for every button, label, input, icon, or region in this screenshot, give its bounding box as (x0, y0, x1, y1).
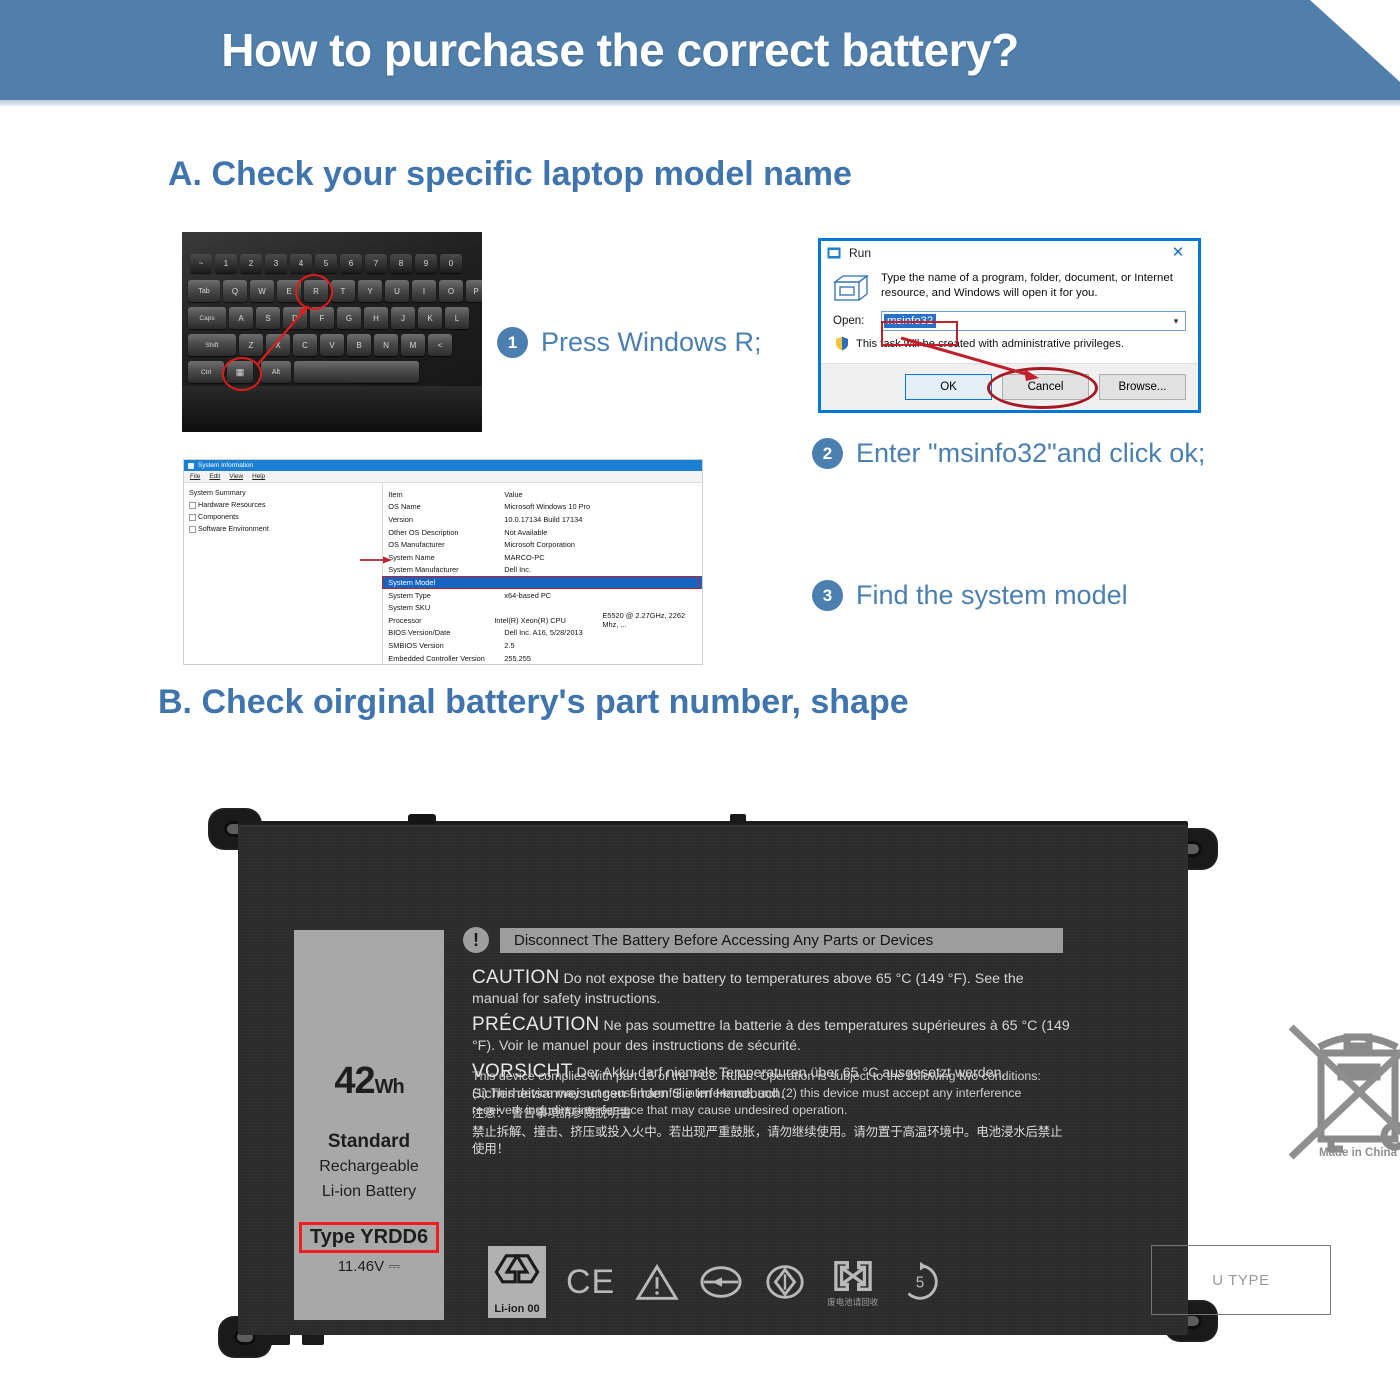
li-ion-label: Li-ion 00 (494, 1303, 539, 1315)
menu-help[interactable]: Help (252, 473, 265, 480)
step-3-label: Find the system model (856, 580, 1128, 611)
run-program-icon (833, 273, 869, 305)
table-row[interactable]: OS NameMicrosoft Windows 10 Pro (383, 501, 702, 514)
row-item: Version (388, 515, 504, 524)
step-1-label: Press Windows R; (541, 327, 762, 358)
row-value: Intel(R) Xeon(R) CPU (494, 616, 602, 625)
ce-mark-icon: CE (566, 1265, 615, 1299)
li-ion-recycle-icon: Li-ion 00 (488, 1246, 546, 1318)
battery-standard-label: Standard (328, 1131, 410, 1153)
run-dialog-body: Type the name of a program, folder, docu… (821, 264, 1198, 305)
taiwan-recycle-icon (830, 1257, 876, 1295)
shield-icon (835, 336, 849, 351)
keyboard-arrow (182, 232, 482, 432)
warning-triangle-icon (635, 1262, 679, 1302)
row-item: BIOS Version/Date (388, 628, 504, 637)
battery-capacity: 42Wh (334, 1060, 403, 1103)
chevron-down-icon[interactable]: ▾ (1167, 316, 1185, 327)
table-row-selected[interactable]: System Model (383, 576, 702, 589)
row-item: System Model (388, 578, 504, 587)
battery-caution-block: CAUTION Do not expose the battery to tem… (472, 965, 1072, 1158)
table-row[interactable]: ProcessorIntel(R) Xeon(R) CPUE5520 @ 2.2… (383, 614, 702, 627)
row-value: MARCO-PC (504, 553, 702, 562)
sysinfo-title: System Information (198, 462, 253, 469)
sysinfo-tree[interactable]: System Summary Hardware Resources Compon… (184, 483, 383, 665)
table-row[interactable]: System ManufacturerDell Inc. (383, 564, 702, 577)
row-value: x64-based PC (504, 591, 702, 600)
banner-shadow (0, 100, 1400, 106)
browse-button[interactable]: Browse... (1099, 374, 1186, 400)
row-item: Processor (388, 616, 494, 625)
row-value: Dell Inc. (504, 565, 702, 574)
ok-button[interactable]: OK (905, 374, 992, 400)
row-value: Not Available (504, 528, 702, 537)
sysinfo-titlebar: System Information (184, 460, 702, 471)
step-1: 1 Press Windows R; (497, 327, 762, 358)
menu-edit[interactable]: Edit (209, 473, 220, 480)
system-information-window[interactable]: System Information File Edit View Help S… (183, 459, 703, 665)
sysinfo-window-icon (188, 463, 194, 469)
keyboard-photo: ~ 1 2 3 4 5 6 7 8 9 0 Tab Q W E R T Y U … (182, 232, 482, 432)
row-item: OS Name (388, 502, 504, 511)
caution-en: CAUTION Do not expose the battery to tem… (472, 965, 1072, 1009)
step-2: 2 Enter "msinfo32"and click ok; (812, 438, 1205, 469)
table-row[interactable]: Embedded Controller Version255.255 (383, 652, 702, 665)
caution-cn-line2: 禁止拆解、撞击、挤压或投入火中。若出现严重鼓胀，请勿继续使用。请勿置于高温环境中… (472, 1124, 1072, 1157)
do-not-dispose-icon (699, 1262, 743, 1302)
battery-type-number: Type YRDD6 (299, 1222, 439, 1253)
table-row[interactable]: System Typex64-based PC (383, 589, 702, 602)
battery-body: 42Wh Standard Rechargeable Li-ion Batter… (238, 825, 1188, 1335)
table-row[interactable]: System NameMARCO-PC (383, 551, 702, 564)
battery-voltage: 11.46V ⎓ (338, 1258, 401, 1275)
table-row[interactable]: BIOS ModeLegacy (383, 664, 702, 665)
table-row[interactable]: SMBIOS Version2.5 (383, 639, 702, 652)
tree-item-software-environment[interactable]: Software Environment (189, 524, 382, 533)
table-header-row: Item Value (383, 488, 702, 501)
run-dialog-description: Type the name of a program, folder, docu… (881, 271, 1186, 305)
row-item: System Name (388, 553, 504, 562)
close-icon[interactable]: ✕ (1164, 242, 1192, 263)
caution-fr: PRÉCAUTION Ne pas soumettre la batterie … (472, 1012, 1072, 1056)
made-in-china-label: Made in China (1273, 1147, 1400, 1159)
table-row[interactable]: OS ManufacturerMicrosoft Corporation (383, 538, 702, 551)
run-dialog-buttons: OK Cancel Browse... (821, 363, 1198, 410)
run-dialog[interactable]: Run ✕ Type the name of a program, folder… (818, 238, 1201, 413)
cancel-button[interactable]: Cancel (1002, 374, 1089, 400)
page-header-banner: How to purchase the correct battery? (0, 0, 1400, 106)
row-value: 10.0.17134 Build 17134 (504, 515, 702, 524)
fcc-line2: (1) This device may not cause harmful in… (472, 1085, 1072, 1102)
battery-compliance-icons: Li-ion 00 CE (488, 1243, 942, 1321)
section-b-heading: B. Check oirginal battery's part number,… (158, 683, 909, 722)
row-value: Dell Inc. A16, 5/28/2013 (504, 628, 702, 637)
battery-fcc-block: This device complies with part 15 of the… (472, 1068, 1072, 1119)
row-value: 255.255 (504, 654, 702, 663)
row-item: Other OS Description (388, 528, 504, 537)
page-title: How to purchase the correct battery? (0, 0, 1240, 100)
exclamation-icon: ! (463, 927, 489, 953)
battery-photo: 42Wh Standard Rechargeable Li-ion Batter… (208, 800, 1218, 1370)
run-dialog-titlebar: Run ✕ (821, 241, 1198, 264)
table-row[interactable]: BIOS Version/DateDell Inc. A16, 5/28/201… (383, 627, 702, 640)
table-row[interactable]: Version10.0.17134 Build 17134 (383, 513, 702, 526)
row-item: OS Manufacturer (388, 540, 504, 549)
fcc-line1: This device complies with part 15 of the… (472, 1068, 1072, 1085)
table-row[interactable]: Other OS DescriptionNot Available (383, 526, 702, 539)
sysinfo-table: Item Value OS NameMicrosoft Windows 10 P… (383, 483, 702, 665)
run-command-input[interactable]: msinfo32 ▾ (881, 311, 1186, 331)
battery-spec-label: 42Wh Standard Rechargeable Li-ion Batter… (294, 930, 444, 1320)
step-2-badge: 2 (812, 438, 843, 469)
rohs-icon: 5 (898, 1261, 942, 1303)
open-label: Open: (833, 315, 873, 327)
run-window-icon (827, 247, 841, 259)
row-item: System SKU (388, 603, 504, 612)
battery-top-bump-left (408, 814, 436, 824)
taiwan-recycle-label: 废电池请回收 (827, 1296, 878, 1308)
row-item: System Manufacturer (388, 565, 504, 574)
row-item: System Type (388, 591, 504, 600)
step-3: 3 Find the system model (812, 580, 1128, 611)
row-item: Embedded Controller Version (388, 654, 504, 663)
battery-top-notch (730, 814, 746, 823)
section-a-heading: A. Check your specific laptop model name (168, 155, 852, 194)
tree-item-system-summary[interactable]: System Summary (189, 488, 382, 497)
step-2-label: Enter "msinfo32"and click ok; (856, 438, 1205, 469)
tree-item-hardware-resources[interactable]: Hardware Resources (189, 500, 382, 509)
row-item: SMBIOS Version (388, 641, 504, 650)
sysinfo-main: System Summary Hardware Resources Compon… (184, 483, 702, 665)
row-value: Microsoft Windows 10 Pro (504, 502, 702, 511)
menu-view[interactable]: View (229, 473, 243, 480)
u-type-box: U TYPE (1151, 1245, 1331, 1315)
battery-recycle-diamond-icon (763, 1262, 807, 1302)
taiwan-battery-recycle-block: 废电池请回收 (827, 1257, 878, 1308)
row-value: Microsoft Corporation (504, 540, 702, 549)
run-dialog-title: Run (849, 246, 871, 260)
run-admin-text: This task will be created with administr… (856, 338, 1124, 350)
row-value: 2.5 (504, 641, 702, 650)
run-admin-notice: This task will be created with administr… (821, 331, 1198, 351)
column-header-value: Value (504, 490, 702, 499)
tree-item-components[interactable]: Components (189, 512, 382, 521)
battery-warning-strip: ! Disconnect The Battery Before Accessin… (463, 927, 1063, 953)
menu-file[interactable]: File (190, 473, 200, 480)
sysinfo-menubar[interactable]: File Edit View Help (184, 471, 702, 483)
svg-text:5: 5 (916, 1275, 925, 1292)
step-3-badge: 3 (812, 580, 843, 611)
battery-rechargeable-line1: Rechargeable (319, 1156, 419, 1178)
fcc-line3: received, including interference that ma… (472, 1102, 1072, 1119)
battery-rechargeable-line2: Li-ion Battery (322, 1181, 416, 1203)
step-1-badge: 1 (497, 327, 528, 358)
battery-warning-text: Disconnect The Battery Before Accessing … (500, 928, 1063, 953)
column-header-item: Item (388, 490, 504, 499)
run-open-row: Open: msinfo32 ▾ (821, 305, 1198, 331)
run-command-value: msinfo32 (884, 314, 936, 328)
